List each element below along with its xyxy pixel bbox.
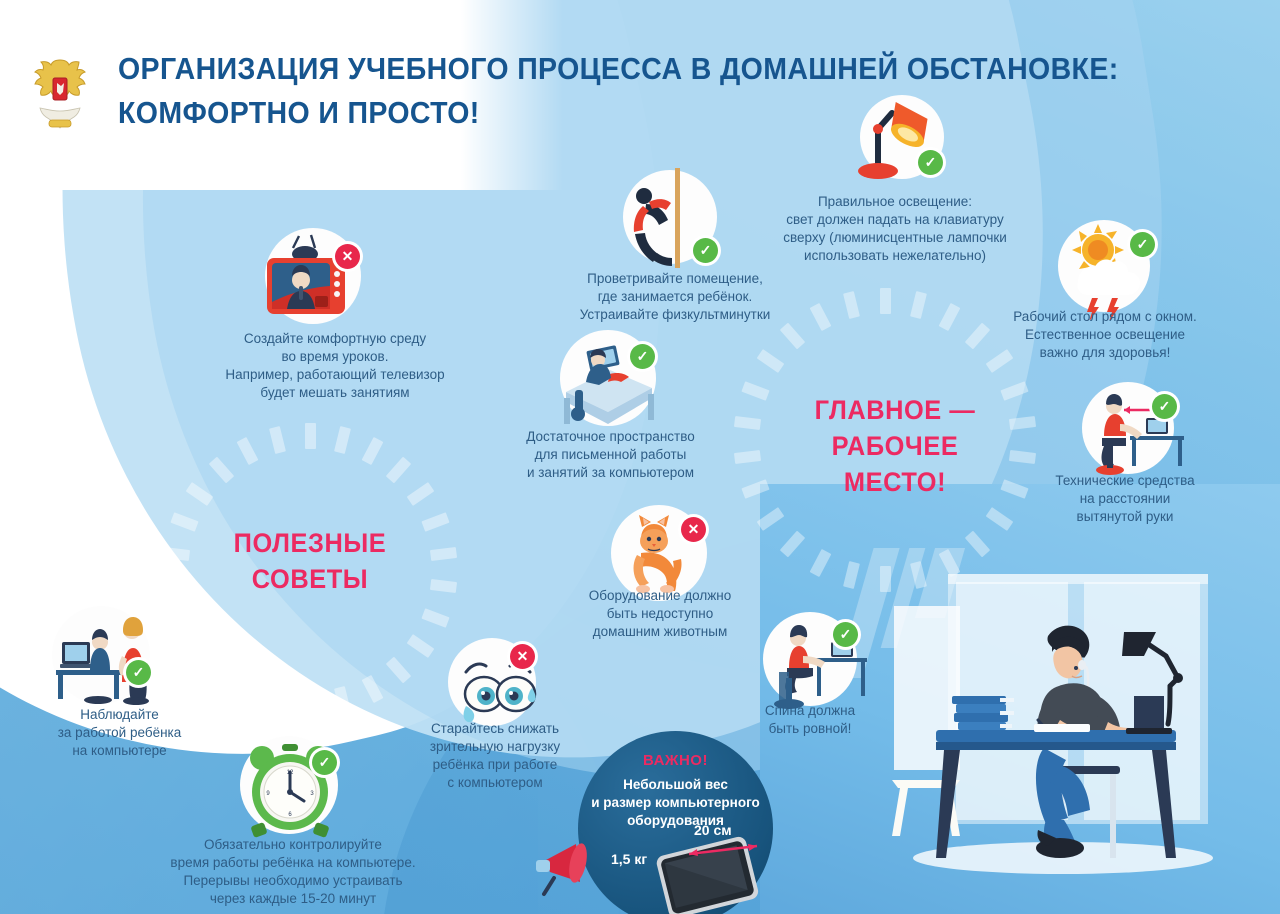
tip-text: Создайте комфортную среду во время уроко…: [185, 330, 485, 402]
ring-dash: [809, 549, 831, 577]
tip-text: Наблюдайте за работой ребёнка на компьют…: [22, 706, 217, 760]
ring-dash: [305, 691, 316, 717]
section-heading-useful-tips: ПОЛЕЗНЫЕ СОВЕТЫ: [216, 525, 404, 597]
poster-title: ОРГАНИЗАЦИЯ УЧЕБНОГО ПРОЦЕССА В ДОМАШНЕЙ…: [118, 47, 1178, 135]
tip-text: Правильное освещение: свет должен падать…: [750, 193, 1040, 265]
status-badge-check: ✓: [312, 750, 337, 775]
ring-dash: [186, 482, 214, 506]
ring-dash: [269, 426, 286, 454]
svg-text:12: 12: [287, 770, 294, 776]
tip-text: Обязательно контролируйте время работы р…: [148, 836, 438, 908]
ring-dash: [334, 426, 351, 454]
russian-federation-coat-of-arms: [24, 50, 96, 138]
ring-dash: [334, 686, 351, 714]
tip-text: Проветривайте помещение, где занимается …: [545, 270, 805, 324]
ring-dash: [361, 675, 383, 703]
status-badge-check: ✓: [126, 660, 151, 685]
ring-dash: [1009, 416, 1036, 430]
parent-supervising-icon: [40, 606, 170, 706]
ring-dash: [429, 547, 456, 561]
ring-dash: [386, 456, 411, 483]
status-badge-check: ✓: [1130, 232, 1155, 257]
ring-dash: [163, 547, 190, 561]
status-badge-check: ✓: [918, 150, 943, 175]
ring-dash: [208, 456, 233, 483]
size-label: 20 см: [694, 822, 732, 838]
ring-dash: [163, 579, 190, 593]
ring-dash: [237, 675, 259, 703]
ring-dash: [386, 657, 411, 684]
ring-dash: [171, 513, 199, 533]
ring-dash: [964, 323, 989, 350]
ring-dash: [939, 303, 961, 331]
ring-dash: [780, 323, 805, 350]
ring-dash: [809, 303, 831, 331]
ring-dash: [406, 634, 434, 658]
left-heading-line-2: СОВЕТЫ: [216, 561, 404, 597]
right-heading-line-1: ГЛАВНОЕ —: [792, 392, 999, 428]
tip-text: Рабочий стол рядом с окном. Естественное…: [990, 308, 1220, 362]
ring-dash: [733, 450, 760, 464]
left-heading-line-1: ПОЛЕЗНЫЕ: [216, 525, 404, 561]
ring-dash: [361, 437, 383, 465]
tip-text: Оборудование должно быть недоступно дома…: [565, 587, 755, 641]
ring-dash: [421, 608, 449, 628]
ring-dash: [910, 291, 927, 319]
ring-dash: [741, 480, 769, 500]
section-heading-workplace: ГЛАВНОЕ — РАБОЧЕЕ МЕСТО!: [792, 392, 999, 500]
title-line-1: ОРГАНИЗАЦИЯ УЧЕБНОГО ПРОЦЕССА В ДОМАШНЕЙ…: [118, 47, 1093, 91]
ring-dash: [986, 507, 1014, 531]
tip-text: Технические средства на расстоянии вытян…: [1020, 472, 1230, 526]
ring-dash: [237, 437, 259, 465]
ring-dash: [880, 288, 891, 314]
ring-dash: [1009, 450, 1036, 464]
ring-dash: [757, 507, 785, 531]
ring-dash: [843, 291, 860, 319]
ring-dash: [733, 416, 760, 430]
ring-dash: [186, 634, 214, 658]
ring-dash: [171, 608, 199, 628]
status-badge-cross: ✕: [681, 517, 706, 542]
ring-dash: [421, 513, 449, 533]
ring-dash: [269, 686, 286, 714]
ring-dash: [406, 482, 434, 506]
ring-dash: [305, 423, 316, 449]
ring-dash: [741, 381, 769, 401]
status-badge-check: ✓: [630, 344, 655, 369]
desk-lamp-icon: [840, 91, 960, 191]
infographic-poster: ОРГАНИЗАЦИЯ УЧЕБНОГО ПРОЦЕССА В ДОМАШНЕЙ…: [0, 0, 1280, 914]
ring-dash: [429, 579, 456, 593]
right-heading-line-2: РАБОЧЕЕ МЕСТО!: [792, 428, 999, 500]
status-badge-cross: ✕: [510, 644, 535, 669]
desk-workspace-icon: [548, 330, 668, 430]
ring-dash: [1001, 381, 1029, 401]
status-badge-check: ✓: [1152, 394, 1177, 419]
important-label: ВАЖНО!: [578, 752, 773, 769]
tip-text: Достаточное пространство для письменной …: [498, 428, 723, 482]
status-badge-cross: ✕: [335, 244, 360, 269]
ring-dash: [757, 349, 785, 373]
student-studying-at-desk-illustration: [848, 548, 1280, 914]
ring-dash: [780, 531, 805, 558]
status-badge-check: ✓: [693, 238, 718, 263]
weight-label: 1,5 кг: [611, 851, 647, 867]
person-at-desk-measure-icon: [1074, 380, 1194, 480]
tip-text: Старайтесь снижать зрительную нагрузку р…: [400, 720, 590, 792]
ring-dash: [208, 657, 233, 684]
size-arrow-icon: [683, 840, 763, 860]
megaphone-icon: [528, 826, 618, 906]
